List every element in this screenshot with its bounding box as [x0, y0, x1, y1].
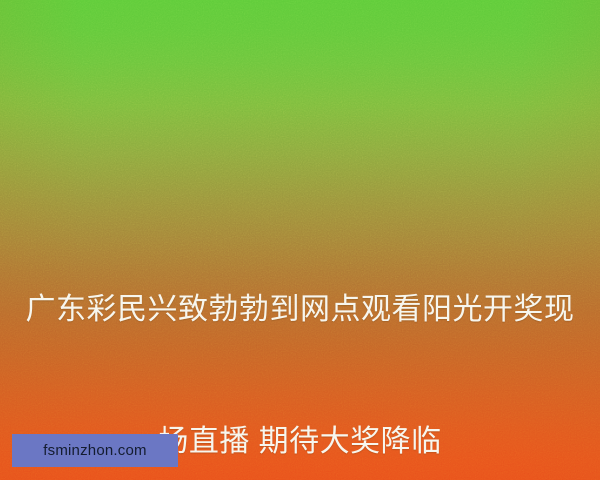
promo-banner: 广东彩民兴致勃勃到网点观看阳光开奖现 场直播 期待大奖降临 fsminzhon.…	[0, 0, 600, 480]
watermark-label: fsminzhon.com	[43, 443, 146, 458]
headline-line-1: 广东彩民兴致勃勃到网点观看阳光开奖现	[16, 288, 584, 332]
watermark-badge: fsminzhon.com	[12, 434, 178, 467]
